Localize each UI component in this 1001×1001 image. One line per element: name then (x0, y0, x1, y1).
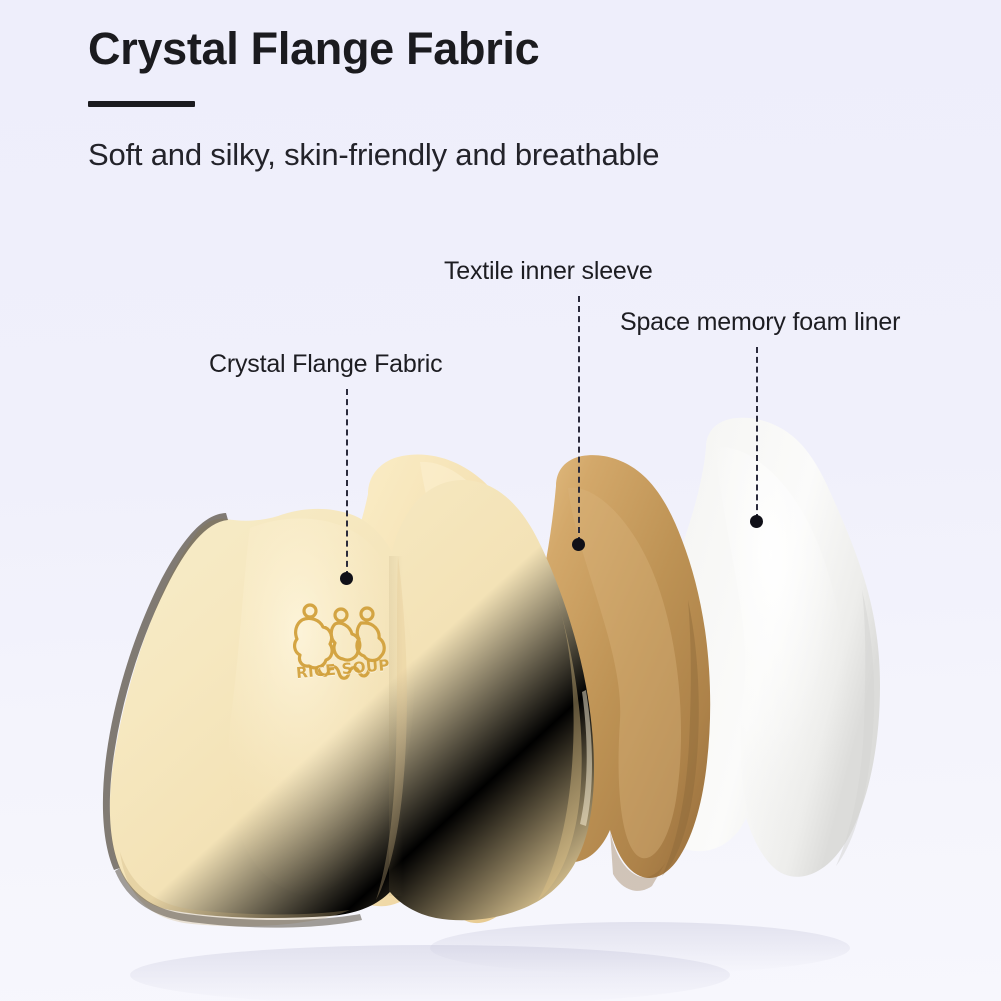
callout-label-textile-inner-sleeve: Textile inner sleeve (444, 257, 653, 286)
callout-label-crystal-flange-fabric: Crystal Flange Fabric (209, 350, 442, 379)
exploded-pillow-layers (0, 0, 1001, 1001)
product-illustration (0, 0, 1001, 1001)
leader-line-space-memory-foam-liner (756, 347, 758, 520)
callout-label-space-memory-foam-liner: Space memory foam liner (620, 308, 900, 337)
leader-line-crystal-flange-fabric (346, 389, 348, 577)
pillow-layer-crystal-flange-fabric (103, 480, 594, 928)
leader-dot-space-memory-foam-liner (750, 515, 763, 528)
leader-dot-textile-inner-sleeve (572, 538, 585, 551)
leader-dot-crystal-flange-fabric (340, 572, 353, 585)
leader-line-textile-inner-sleeve (578, 296, 580, 543)
product-feature-banner: Crystal Flange Fabric Soft and silky, sk… (0, 0, 1001, 1001)
